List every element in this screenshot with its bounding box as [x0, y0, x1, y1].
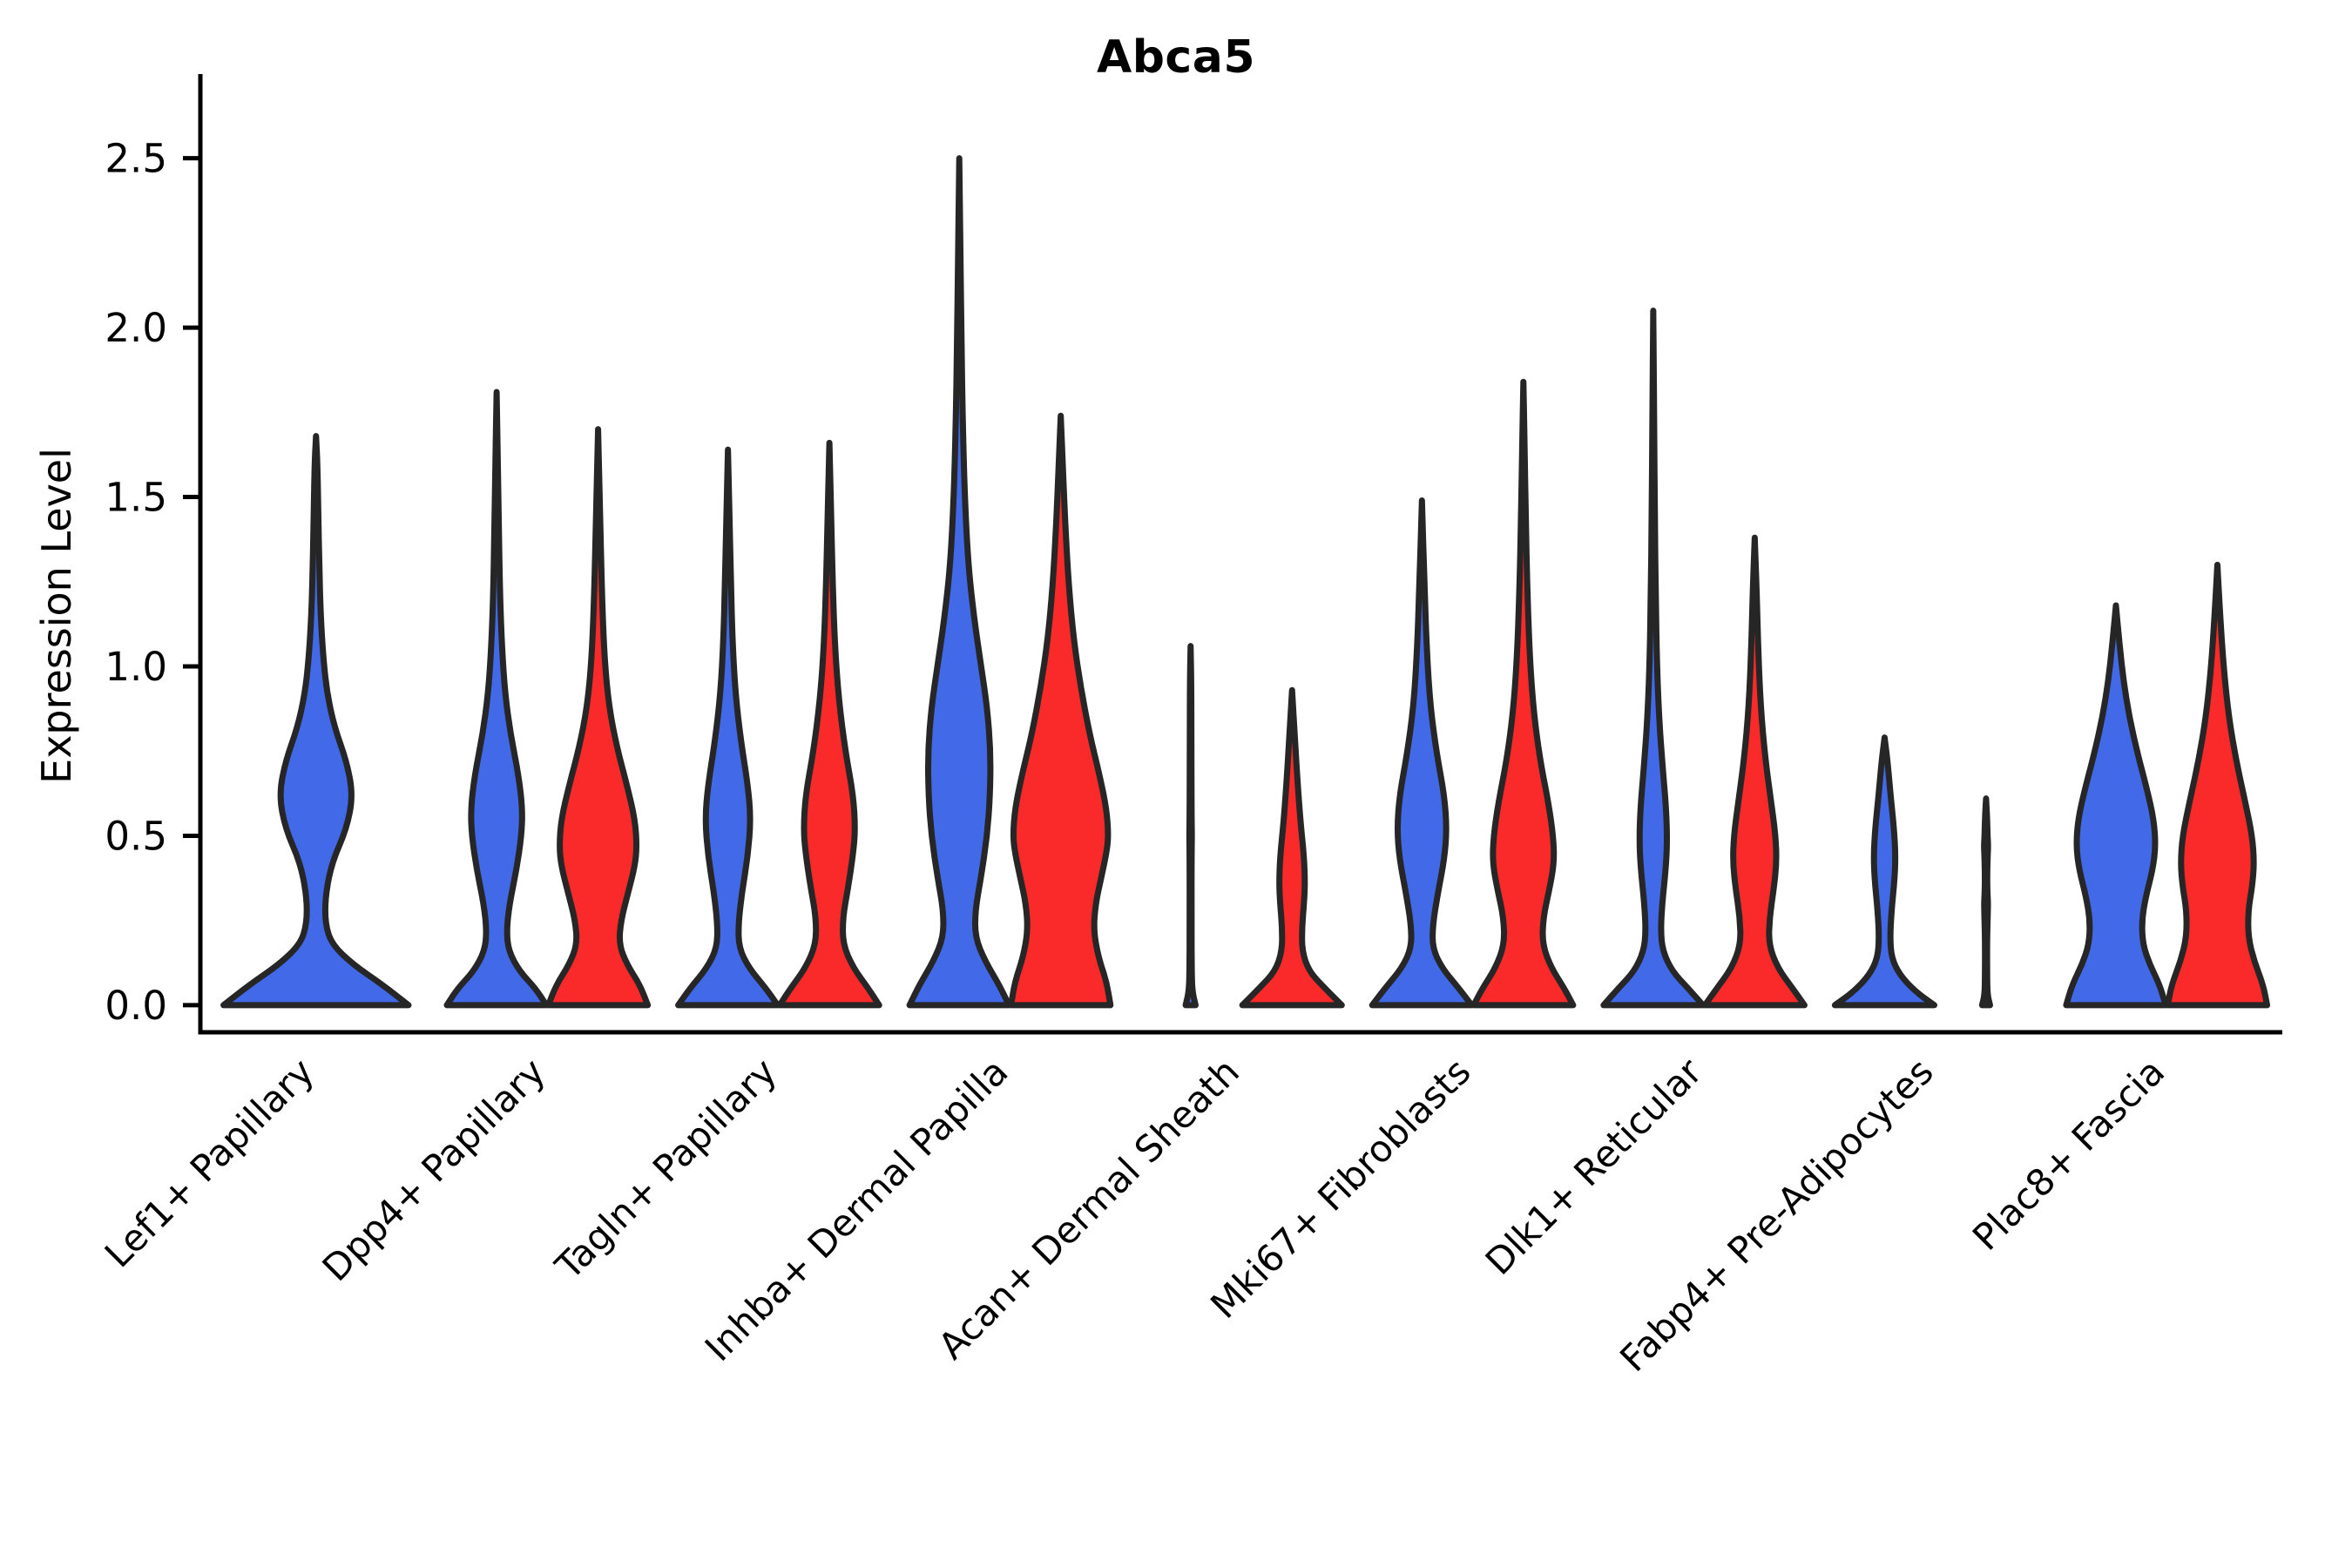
- violin-shape-red: [780, 443, 879, 1005]
- violin-series-layer: [224, 159, 2268, 1005]
- y-tick-label: 1.0: [105, 644, 167, 690]
- violin-shape-blue: [447, 392, 546, 1005]
- x-tick-label-group: Dlk1+ Reticular: [1477, 1050, 1711, 1283]
- x-tick-label: Mki67+ Fibroblasts: [1202, 1050, 1478, 1326]
- violin-shape-blue: [1835, 738, 1934, 1005]
- violin-chart-canvas: 0.00.51.01.52.02.5 Lef1+ PapillaryDpp4+ …: [0, 0, 2352, 1568]
- x-tick-label: Dpp4+ Papillary: [314, 1050, 554, 1289]
- y-tick-label: 0.5: [105, 813, 167, 859]
- violin-shape-blue: [1604, 311, 1703, 1005]
- x-tick-label: Tagln+ Papillary: [547, 1050, 785, 1288]
- violin-shape-blue: [909, 159, 1009, 1005]
- x-tick-label-group: Tagln+ Papillary: [547, 1050, 785, 1288]
- violin-shape-red: [1474, 382, 1573, 1005]
- violin-shape-blue: [224, 436, 409, 1005]
- violin-shape-red: [1982, 799, 1990, 1005]
- violin-shape-red: [1705, 537, 1804, 1005]
- violin-shape-red: [2167, 564, 2267, 1005]
- x-tick-label-group: Plac8+ Fascia: [1964, 1050, 2173, 1258]
- y-tick-label: 2.5: [105, 136, 167, 182]
- violin-shape-blue: [2066, 605, 2166, 1005]
- y-tick-label: 0.0: [105, 983, 167, 1029]
- y-tick-label: 1.5: [105, 475, 167, 521]
- x-tick-label-group: Mki67+ Fibroblasts: [1202, 1050, 1478, 1326]
- violin-shape-red: [548, 429, 647, 1005]
- x-tick-label: Dlk1+ Reticular: [1477, 1050, 1711, 1283]
- x-tick-label: Lef1+ Papillary: [97, 1050, 322, 1275]
- y-tick-labels: 0.00.51.01.52.02.5: [105, 136, 200, 1029]
- violin-shape-red: [1011, 416, 1111, 1005]
- violin-plot-figure: Abca5 Expression Level 0.00.51.01.52.02.…: [0, 0, 2352, 1568]
- x-tick-label-group: Lef1+ Papillary: [97, 1050, 322, 1275]
- violin-shape-blue: [679, 449, 778, 1005]
- y-tick-label: 2.0: [105, 305, 167, 351]
- x-tick-label-group: Dpp4+ Papillary: [314, 1050, 554, 1289]
- violin-shape-blue: [1186, 646, 1195, 1005]
- x-tick-labels: Lef1+ PapillaryDpp4+ PapillaryTagln+ Pap…: [97, 1050, 2173, 1380]
- violin-shape-red: [1242, 690, 1342, 1005]
- violin-shape-blue: [1372, 500, 1471, 1004]
- x-tick-label: Plac8+ Fascia: [1964, 1050, 2173, 1258]
